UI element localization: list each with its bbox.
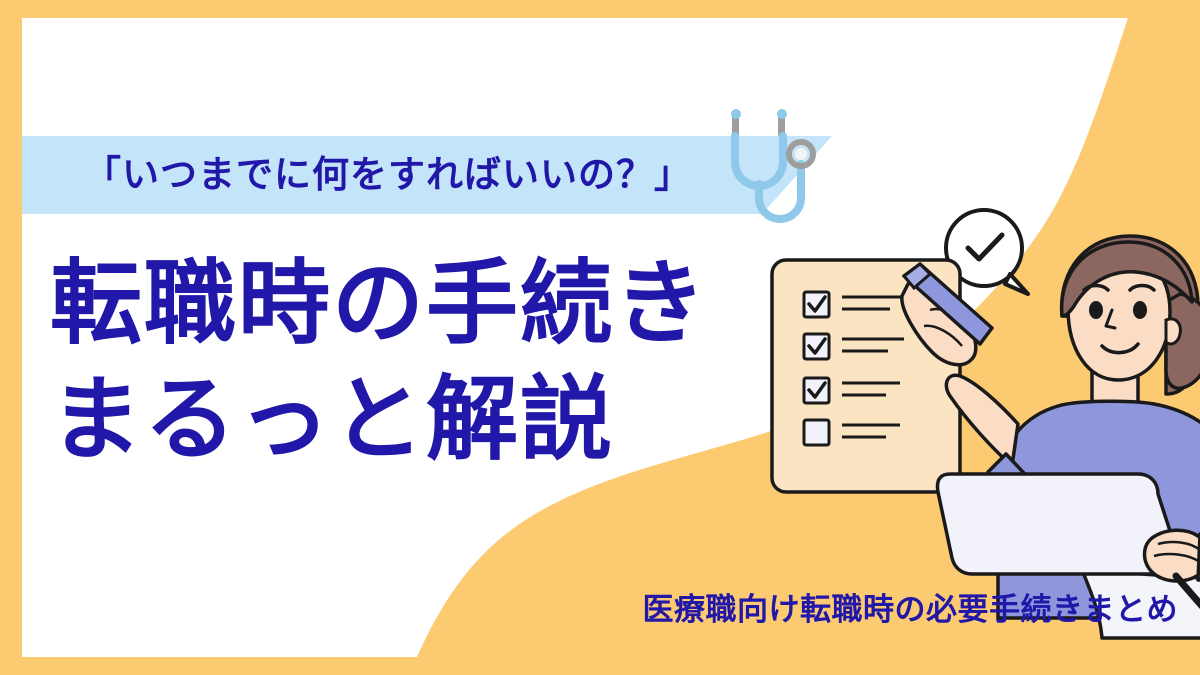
title-line-1: 転職時の手続き — [50, 246, 708, 362]
footer-caption: 医療職向け転職時の必要手続きまとめ — [643, 584, 1179, 629]
title-line-2: まるっと解説 — [50, 362, 708, 478]
banner-canvas: 「いつまでに何をすればいいの？」 転職時の手続き まるっと解説 — [0, 0, 1200, 675]
subtitle-text: 「いつまでに何をすればいいの？」 — [84, 140, 692, 210]
banner-card: 「いつまでに何をすればいいの？」 転職時の手続き まるっと解説 — [22, 18, 1200, 657]
page-title: 転職時の手続き まるっと解説 — [50, 246, 708, 478]
